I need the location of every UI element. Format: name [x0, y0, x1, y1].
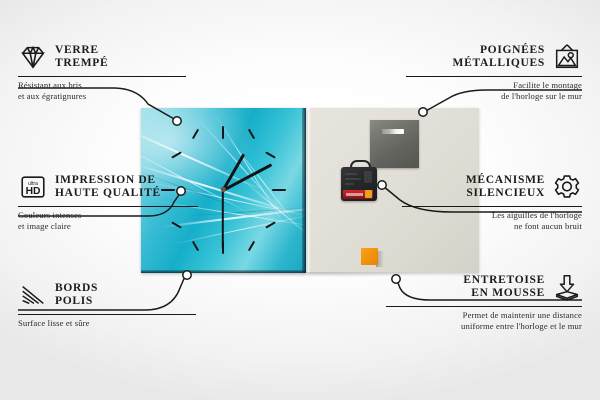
diamond-icon	[18, 42, 48, 72]
callout-title: POIGNÉES MÉTALLIQUES	[453, 44, 545, 70]
clock-tick	[192, 129, 199, 140]
callout-verre-trempe: VERRE TREMPÉ Résistant aux bris et aux é…	[18, 40, 233, 102]
callout-rule	[402, 206, 582, 207]
battery-label	[346, 193, 363, 196]
callout-header: VERRE TREMPÉ	[18, 40, 233, 74]
clock-tick	[248, 129, 255, 140]
glass-right-edge	[302, 108, 306, 273]
polished-edge-lines-icon	[18, 280, 48, 310]
clock-tick	[265, 151, 276, 158]
callout-header: ultra HD IMPRESSION DE HAUTE QUALITÉ	[18, 170, 233, 204]
callout-rule	[18, 314, 196, 315]
callout-rule	[18, 76, 186, 77]
callout-subtitle: Permet de maintenir une distance uniform…	[367, 310, 582, 331]
callout-impression-haute-qualite: ultra HD IMPRESSION DE HAUTE QUALITÉ Cou…	[18, 170, 233, 232]
orange-foam-spacer	[361, 248, 378, 265]
framed-picture-hanger-icon	[552, 42, 582, 72]
infographic-canvas: VERRE TREMPÉ Résistant aux bris et aux é…	[0, 0, 600, 400]
arrow-onto-foam-pad-icon	[552, 272, 582, 302]
hanger-slot	[382, 129, 404, 134]
callout-header: MÉCANISME SILENCIEUX	[367, 170, 582, 204]
clock-tick	[222, 126, 224, 139]
callout-subtitle: Résistant aux bris et aux égratignures	[18, 80, 233, 101]
callout-rule	[386, 306, 582, 307]
callout-rule	[18, 206, 198, 207]
callout-entretoise-en-mousse: ENTRETOISE EN MOUSSE Permet de maintenir…	[367, 270, 582, 332]
callout-subtitle: Facilite le montage de l'horloge sur le …	[367, 80, 582, 101]
callout-title: MÉCANISME SILENCIEUX	[466, 174, 545, 200]
clock-tick	[171, 151, 182, 158]
callout-bords-polis: BORDS POLIS Surface lisse et sûre	[18, 278, 233, 329]
metal-hanger-plate	[370, 120, 419, 168]
callout-mecanisme-silencieux: MÉCANISME SILENCIEUX Les aiguilles de l'…	[367, 170, 582, 232]
back-panel-edge	[308, 108, 311, 273]
callout-subtitle: Les aiguilles de l'horloge ne font aucun…	[367, 210, 582, 231]
callout-poignees-metalliques: POIGNÉES MÉTALLIQUES Facilite le montage…	[367, 40, 582, 102]
clock-tick	[272, 189, 286, 191]
ultra-hd-big-text: HD	[26, 186, 41, 197]
callout-subtitle: Surface lisse et sûre	[18, 318, 233, 329]
callout-header: BORDS POLIS	[18, 278, 233, 312]
clock-tick	[192, 241, 199, 252]
gear-icon	[552, 172, 582, 202]
callout-title: ENTRETOISE EN MOUSSE	[463, 274, 545, 300]
callout-header: POIGNÉES MÉTALLIQUES	[367, 40, 582, 74]
ultra-hd-badge-icon: ultra HD	[18, 172, 48, 202]
callout-title: BORDS POLIS	[55, 282, 98, 308]
callout-subtitle: Couleurs intenses et image claire	[18, 210, 233, 231]
glass-bottom-edge	[141, 270, 306, 273]
callout-rule	[406, 76, 582, 77]
clock-tick	[248, 241, 255, 252]
callout-header: ENTRETOISE EN MOUSSE	[367, 270, 582, 304]
callout-title: IMPRESSION DE HAUTE QUALITÉ	[55, 174, 161, 200]
callout-title: VERRE TREMPÉ	[55, 44, 108, 70]
